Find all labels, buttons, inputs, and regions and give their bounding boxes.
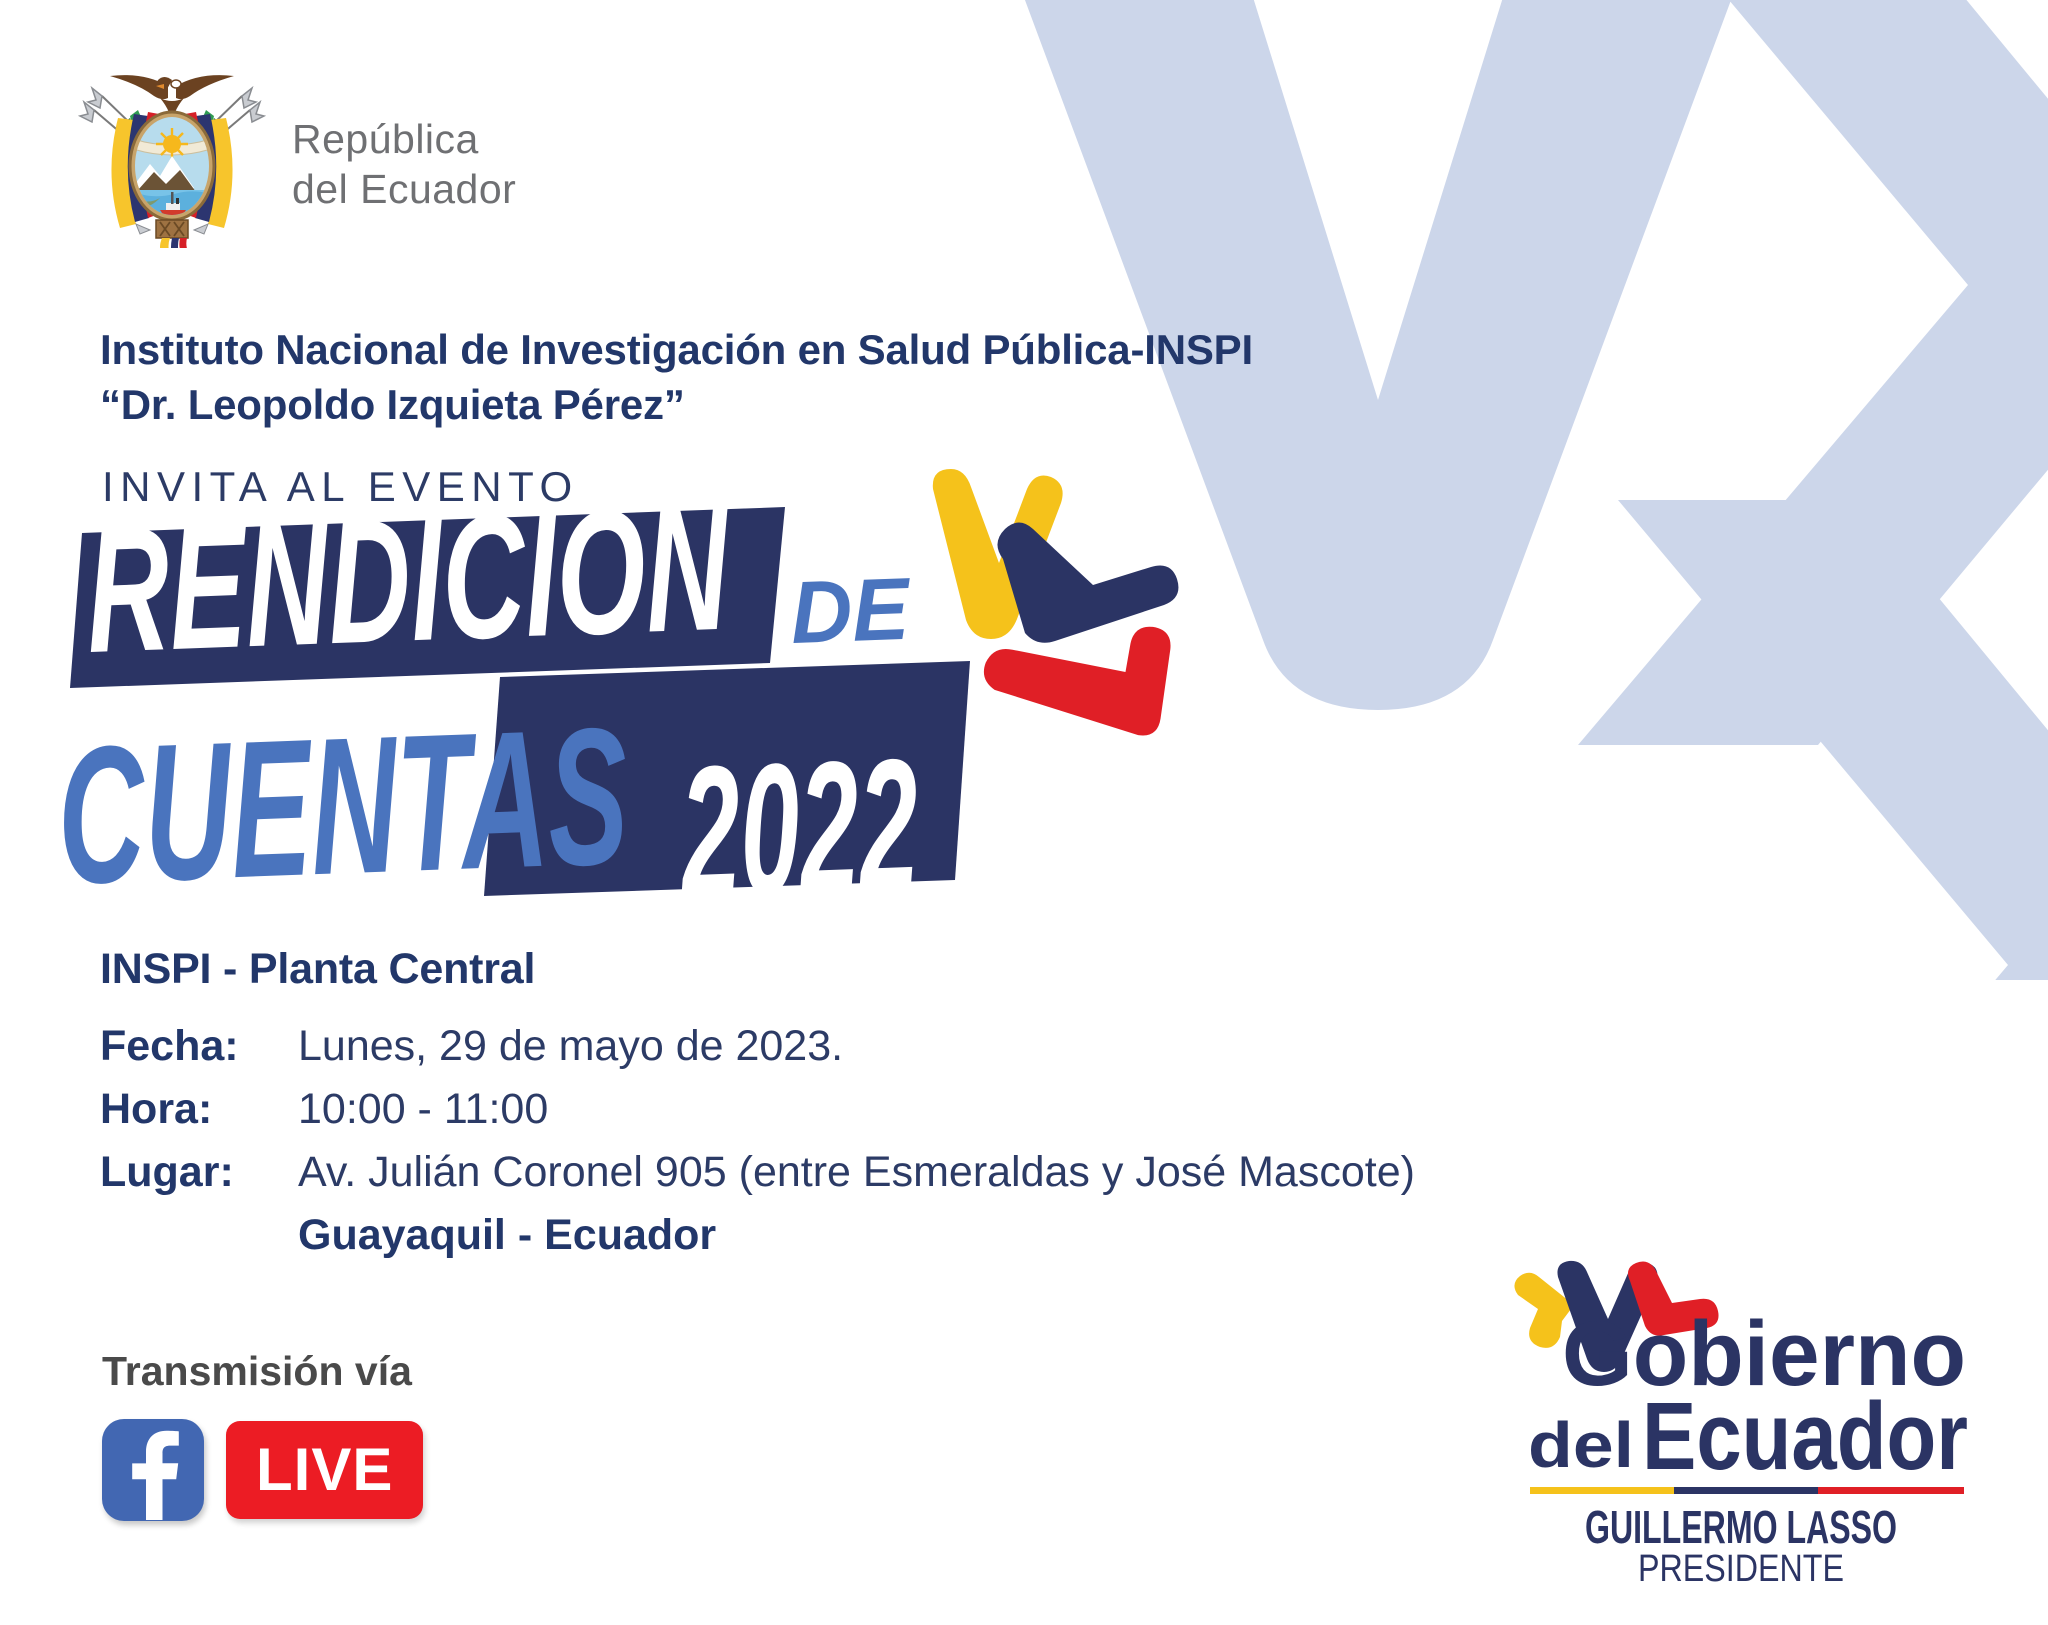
logo-word-cuentas: CUENTAS xyxy=(54,687,632,925)
venue-city: Guayaquil - Ecuador xyxy=(298,1211,1415,1260)
republica-caption: República del Ecuador xyxy=(292,114,516,214)
detail-label-hora: Hora: xyxy=(100,1085,298,1134)
president-title: PRESIDENTE xyxy=(1638,1548,1844,1585)
gobierno-del-word: del xyxy=(1528,1409,1634,1481)
gobierno-del-ecuador-logo: Gobierno del Ecuador GUILLERMO LASSO PRE… xyxy=(1506,1255,1976,1585)
detail-value-fecha: Lunes, 29 de mayo de 2023. xyxy=(298,1022,843,1071)
institute-title: Instituto Nacional de Investigación en S… xyxy=(100,322,1253,433)
tricolor-rule xyxy=(1530,1487,1964,1494)
republic-branding: República del Ecuador xyxy=(72,48,516,248)
detail-value-hora: 10:00 - 11:00 xyxy=(298,1085,548,1134)
detail-row-hora: Hora: 10:00 - 11:00 xyxy=(100,1085,1415,1134)
event-logo-lockup: .rend-word { font-family:"Liberation San… xyxy=(70,455,1150,915)
facebook-icon xyxy=(102,1419,204,1521)
ecuador-coat-of-arms-icon xyxy=(72,48,272,248)
logo-word-year: 2022 xyxy=(675,719,922,936)
logo-v-chevron-mark xyxy=(933,469,1180,751)
event-details: INSPI - Planta Central Fecha: Lunes, 29 … xyxy=(100,945,1415,1260)
live-button[interactable]: LIVE xyxy=(226,1421,423,1519)
detail-label-fecha: Fecha: xyxy=(100,1022,298,1071)
facebook-button[interactable] xyxy=(102,1419,204,1521)
broadcast-label: Transmisión vía xyxy=(102,1348,423,1395)
president-name: GUILLERMO LASSO xyxy=(1585,1501,1897,1553)
broadcast-block: Transmisión vía LIVE xyxy=(102,1348,423,1521)
logo-word-de: DE xyxy=(789,559,913,662)
poster-canvas: República del Ecuador Instituto Nacional… xyxy=(0,0,2048,1625)
detail-row-fecha: Fecha: Lunes, 29 de mayo de 2023. xyxy=(100,1022,1415,1071)
broadcast-badges: LIVE xyxy=(102,1419,423,1521)
detail-value-lugar: Av. Julián Coronel 905 (entre Esmeraldas… xyxy=(298,1148,1415,1197)
detail-label-lugar: Lugar: xyxy=(100,1148,298,1197)
gobierno-ecuador-word: Ecuador xyxy=(1642,1383,1968,1490)
detail-row-lugar: Lugar: Av. Julián Coronel 905 (entre Esm… xyxy=(100,1148,1415,1197)
live-label: LIVE xyxy=(256,1440,393,1500)
venue-name: INSPI - Planta Central xyxy=(100,945,1415,994)
logo-word-rendicion: RENDICIÓN xyxy=(83,469,734,690)
